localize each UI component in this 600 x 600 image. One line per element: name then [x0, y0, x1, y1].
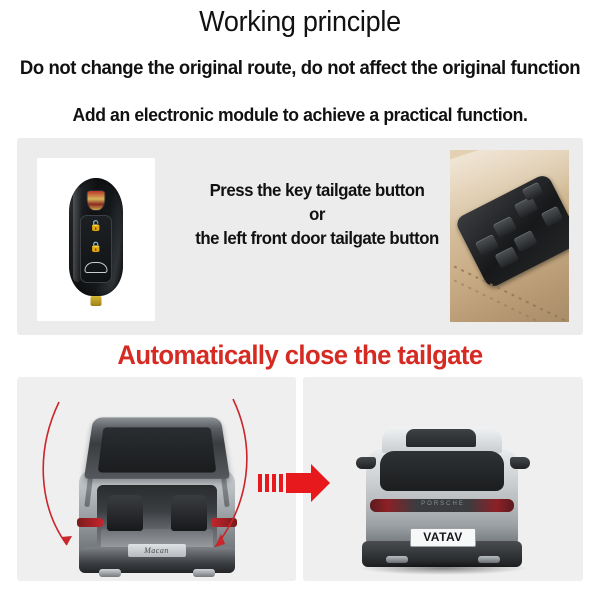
page-title: Working principle	[21, 6, 579, 39]
red-headline: Automatically close the tailgate	[15, 340, 585, 371]
rear-window-glass	[380, 451, 504, 491]
top-panel: 🔓 🔒 Press the key tailgate button or the…	[17, 138, 583, 335]
taillight-right	[211, 518, 237, 527]
open-tailgate-panel: Macan	[17, 377, 296, 581]
closed-tailgate-panel: PORSCHE VATAV	[303, 377, 583, 581]
car-shadow	[358, 561, 528, 575]
subtitle-line-2: Add an electronic module to achieve a pr…	[15, 104, 585, 126]
key-fob-button-face: 🔓 🔒	[80, 215, 112, 283]
instruction-line-2: or	[173, 202, 461, 226]
unlock-icon: 🔓	[87, 219, 105, 235]
door-panel-image	[450, 150, 569, 322]
switch-button	[541, 206, 564, 228]
switch-button	[513, 230, 538, 252]
key-fob-image: 🔓 🔒	[37, 158, 155, 321]
rear-badge: PORSCHE	[421, 501, 465, 507]
license-plate: Macan	[128, 544, 186, 557]
subtitle-line-1: Do not change the original route, do not…	[15, 57, 585, 80]
transition-arrow	[256, 458, 332, 508]
taillight-left	[77, 518, 103, 527]
exhaust-tip-left	[99, 569, 121, 577]
open-tailgate	[83, 417, 229, 478]
key-fob-illustration: 🔓 🔒	[69, 178, 123, 302]
instruction-line-1: Press the key tailgate button	[173, 178, 461, 202]
rear-window-glass	[97, 427, 216, 472]
right-arrow-icon	[256, 458, 332, 508]
rear-seat-right	[171, 495, 207, 531]
tailgate-icon	[85, 262, 108, 273]
suv-closed-tailgate-illustration: PORSCHE VATAV	[340, 421, 546, 573]
key-fob-body: 🔓 🔒	[69, 178, 123, 296]
switch-button	[494, 246, 519, 268]
key-blade-icon	[91, 296, 102, 306]
porsche-crest-icon	[87, 190, 106, 211]
instruction-text: Press the key tailgate button or the lef…	[173, 178, 461, 250]
sunroof	[406, 429, 476, 447]
switch-button	[492, 216, 517, 238]
rear-seat-left	[107, 495, 143, 531]
page-root: Working principle Do not change the orig…	[0, 0, 600, 600]
switch-button	[475, 234, 500, 256]
suv-open-tailgate-illustration: Macan	[63, 407, 251, 579]
instruction-line-3: the left front door tailgate button	[173, 226, 461, 250]
license-plate: VATAV	[410, 528, 476, 547]
side-mirror-right	[510, 457, 530, 469]
exhaust-tip-right	[193, 569, 215, 577]
side-mirror-left	[356, 457, 376, 469]
lock-icon: 🔒	[87, 240, 105, 256]
